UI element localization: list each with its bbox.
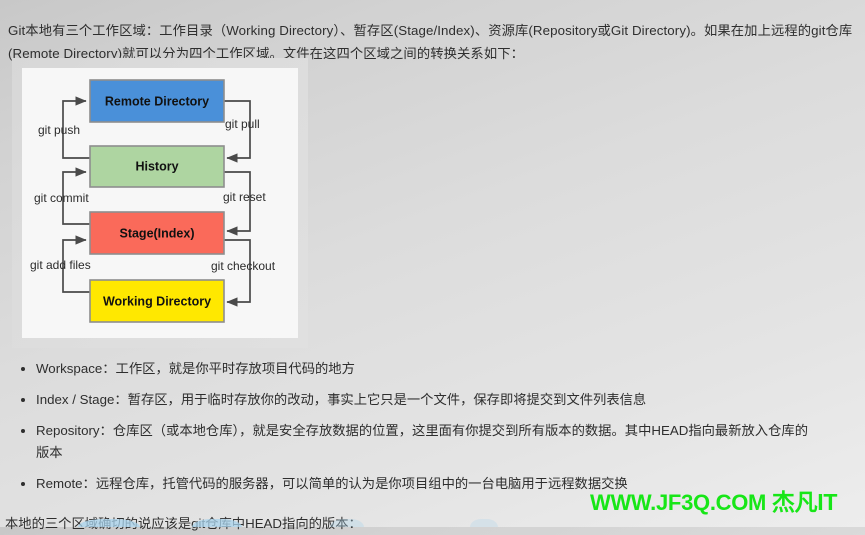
decorative-shape bbox=[78, 519, 140, 527]
list-item: Index / Stage：暂存区，用于临时存放你的改动，事实上它只是一个文件，… bbox=[12, 389, 812, 411]
list-item: Workspace：工作区，就是你平时存放项目代码的地方 bbox=[12, 358, 812, 380]
list-item-text: Index / Stage：暂存区，用于临时存放你的改动，事实上它只是一个文件，… bbox=[36, 392, 646, 407]
watermark-latin: WWW.JF3Q.COM bbox=[590, 490, 766, 515]
git-areas-list: Workspace：工作区，就是你平时存放项目代码的地方 Index / Sta… bbox=[12, 358, 812, 504]
node-stage-index-label: Stage(Index) bbox=[119, 226, 194, 240]
edge-label-git-add-files: git add files bbox=[30, 258, 91, 272]
edge-label-git-reset: git reset bbox=[223, 190, 266, 204]
decorative-shape bbox=[330, 519, 364, 527]
list-item-text: Workspace：工作区，就是你平时存放项目代码的地方 bbox=[36, 361, 355, 376]
watermark-cjk: 杰凡IT bbox=[772, 489, 837, 515]
node-history-label: History bbox=[135, 159, 178, 173]
node-working-directory-label: Working Directory bbox=[103, 294, 211, 308]
figure-canvas: Remote Directory History Stage(Index) Wo… bbox=[22, 68, 298, 338]
list-item-text: Repository：仓库区（或本地仓库），就是安全存放数据的位置，这里面有你提… bbox=[36, 423, 808, 460]
article-page: Git本地有三个工作区域：工作目录（Working Directory）、暂存区… bbox=[0, 0, 865, 527]
decorative-shape bbox=[470, 519, 498, 527]
list-item: Repository：仓库区（或本地仓库），就是安全存放数据的位置，这里面有你提… bbox=[12, 420, 812, 464]
edge-label-git-checkout: git checkout bbox=[211, 259, 276, 273]
list-item-text: Remote：远程仓库，托管代码的服务器，可以简单的认为是你项目组中的一台电脑用… bbox=[36, 476, 628, 491]
decorative-shape bbox=[192, 519, 242, 527]
node-remote-directory-label: Remote Directory bbox=[105, 94, 209, 108]
edge-label-git-commit: git commit bbox=[34, 191, 89, 205]
git-areas-diagram: Remote Directory History Stage(Index) Wo… bbox=[22, 68, 298, 338]
site-watermark: WWW.JF3Q.COM 杰凡IT bbox=[590, 491, 837, 514]
git-workflow-figure: Remote Directory History Stage(Index) Wo… bbox=[12, 58, 308, 348]
edge-label-git-pull: git pull bbox=[225, 117, 260, 131]
edge-label-git-push: git push bbox=[38, 123, 80, 137]
closing-paragraph: 本地的三个区域确切的说应该是git仓库中HEAD指向的版本： bbox=[5, 513, 362, 535]
